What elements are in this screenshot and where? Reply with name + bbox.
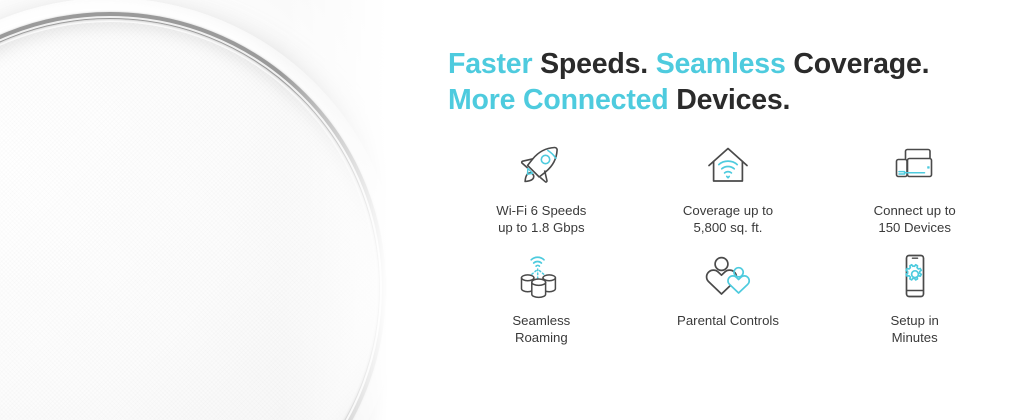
feature-label: Wi-Fi 6 Speeds up to 1.8 Gbps xyxy=(496,202,586,236)
phone-gear-setup-icon xyxy=(888,250,942,302)
product-photo xyxy=(0,0,430,420)
headline-line-2: More Connected Devices. xyxy=(448,84,790,116)
feature-item-coverage: Coverage up to 5,800 sq. ft. xyxy=(635,140,822,236)
feature-label: Connect up to 150 Devices xyxy=(874,202,956,236)
feature-grid: Wi-Fi 6 Speeds up to 1.8 Gbps Coverage u… xyxy=(448,140,1008,346)
promo-banner: Faster Speeds. Seamless Coverage. More C… xyxy=(0,0,1025,420)
feature-item-wifi6-speeds: Wi-Fi 6 Speeds up to 1.8 Gbps xyxy=(448,140,635,236)
headline-word-seamless: Seamless xyxy=(656,48,794,80)
feature-item-devices: Connect up to 150 Devices xyxy=(821,140,1008,236)
feature-item-seamless-roaming: Seamless Roaming xyxy=(448,250,635,346)
headline-word-more-connected: More Connected xyxy=(448,84,676,116)
feature-label: Seamless Roaming xyxy=(512,312,570,346)
headline-word-speeds: Speeds. xyxy=(540,48,656,80)
headline-word-faster: Faster xyxy=(448,48,540,80)
content-column: Faster Speeds. Seamless Coverage. More C… xyxy=(448,0,1008,420)
headline-line-1: Faster Speeds. Seamless Coverage. xyxy=(448,48,929,80)
page-title: Faster Speeds. Seamless Coverage. More C… xyxy=(448,0,1008,118)
headline-word-coverage: Coverage. xyxy=(793,48,929,80)
feature-item-parental-controls: Parental Controls xyxy=(635,250,822,346)
feature-label: Setup in Minutes xyxy=(890,312,938,346)
multi-devices-icon xyxy=(888,140,942,192)
mesh-units-roaming-icon xyxy=(512,250,570,302)
rocket-icon xyxy=(514,140,568,192)
feature-item-setup: Setup in Minutes xyxy=(821,250,1008,346)
photo-edge-fade xyxy=(280,0,430,420)
feature-label: Parental Controls xyxy=(677,312,779,329)
feature-label: Coverage up to 5,800 sq. ft. xyxy=(683,202,773,236)
house-wifi-icon xyxy=(701,140,755,192)
parental-controls-heart-people-icon xyxy=(700,250,756,302)
headline-word-devices: Devices. xyxy=(676,84,790,116)
